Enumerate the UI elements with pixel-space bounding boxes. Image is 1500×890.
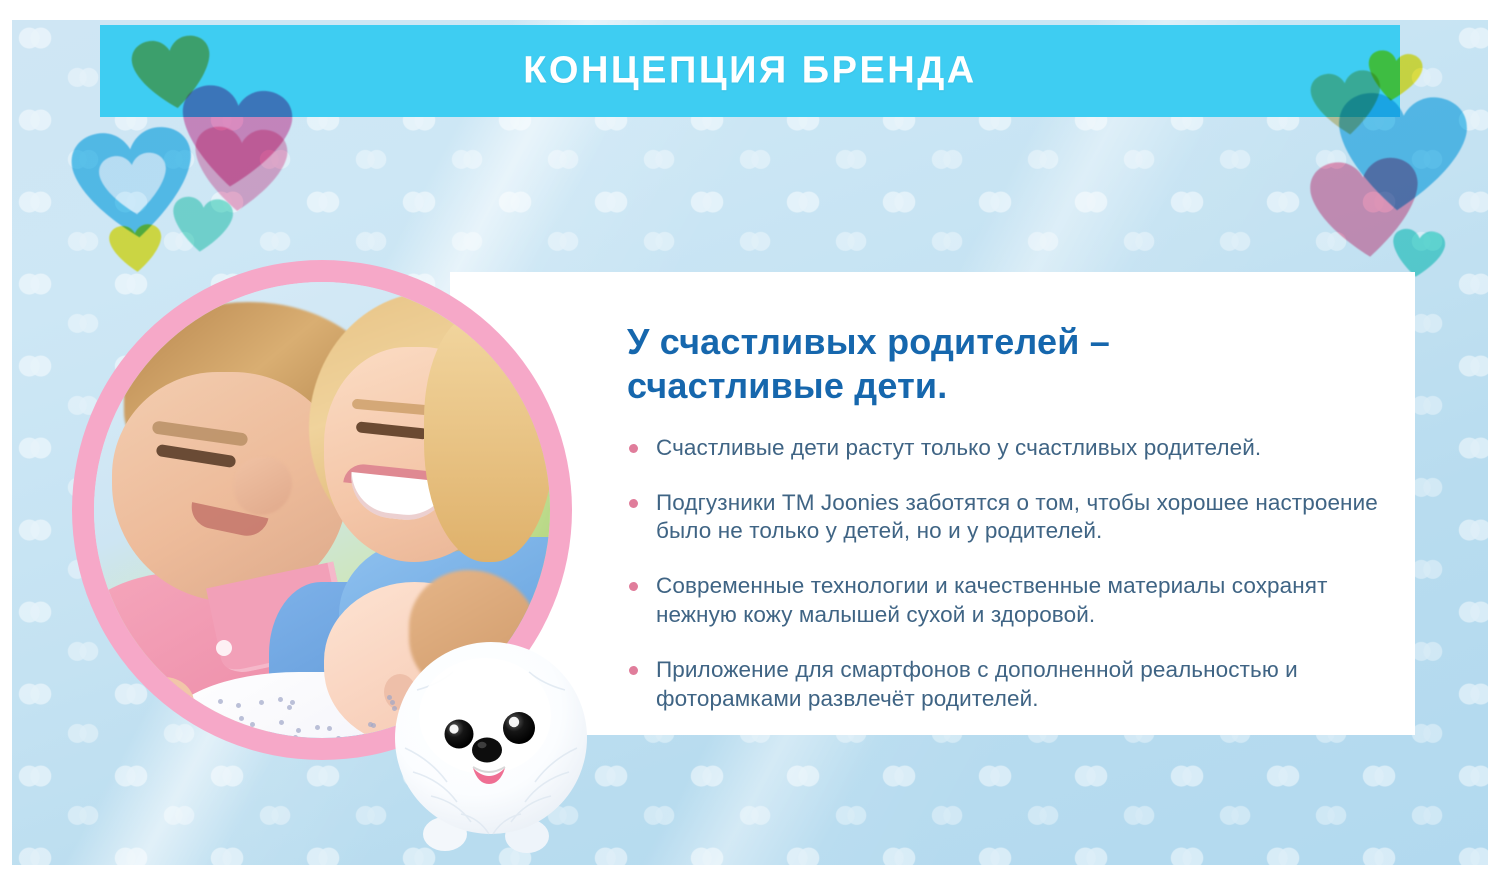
bullet-dot-icon — [629, 444, 638, 453]
heading-line-1: У счастливых родителей – — [627, 321, 1110, 362]
page-title: У счастливых родителей – счастливые дети… — [627, 320, 1387, 408]
list-item-label: Современные технологии и качественные ма… — [656, 573, 1328, 627]
list-item-label: Счастливые дети растут только у счастлив… — [656, 435, 1261, 460]
banner-title-text: КОНЦЕПЦИЯ БРЕНДА — [100, 50, 1400, 93]
list-item: Современные технологии и качественные ма… — [627, 572, 1387, 630]
heading-line-2: счастливые дети. — [627, 364, 1387, 408]
text-content-block: У счастливых родителей – счастливые дети… — [627, 320, 1387, 713]
pomeranian-mascot-icon — [387, 628, 597, 863]
bullet-dot-icon — [629, 666, 638, 675]
bullet-list: Счастливые дети растут только у счастлив… — [627, 434, 1387, 714]
list-item: Подгузники ТМ Joonies заботятся о том, ч… — [627, 489, 1387, 547]
heart-teal-icon — [170, 195, 235, 255]
list-item: Счастливые дети растут только у счастлив… — [627, 434, 1387, 463]
list-item: Приложение для смартфонов с дополненной … — [627, 656, 1387, 714]
title-banner: КОНЦЕПЦИЯ БРЕНДА — [100, 25, 1400, 117]
list-item-label: Приложение для смартфонов с дополненной … — [656, 657, 1298, 711]
bullet-dot-icon — [629, 582, 638, 591]
bullet-dot-icon — [629, 499, 638, 508]
slide-canvas: КОНЦЕПЦИЯ БРЕНДА — [12, 20, 1488, 865]
list-item-label: Подгузники ТМ Joonies заботятся о том, ч… — [656, 490, 1378, 544]
